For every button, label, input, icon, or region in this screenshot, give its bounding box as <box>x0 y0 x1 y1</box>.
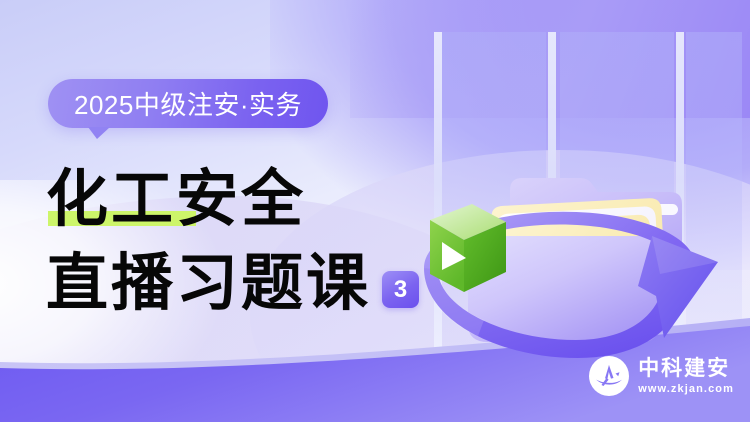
brand-url: www.zkjan.com <box>638 384 734 395</box>
title-line-2: 直播习题课 <box>46 252 371 314</box>
logo-mark-svg <box>592 359 626 393</box>
title-line-1: 化工安全 <box>46 168 306 230</box>
course-banner: 2025中级注安·实务 化工安全 直播习题课 3 中科建安 www.z <box>0 0 750 422</box>
brand-logo-text: 中科建安 www.zkjan.com <box>638 358 734 395</box>
brand-logo[interactable]: 中科建安 www.zkjan.com <box>589 356 734 396</box>
episode-badge: 3 <box>382 271 419 308</box>
course-tag-pill[interactable]: 2025中级注安·实务 <box>48 79 328 128</box>
page-title: 化工安全 直播习题课 3 <box>46 152 419 314</box>
speech-bubble-tail-icon <box>88 127 110 139</box>
course-illustration <box>402 120 750 373</box>
brand-name: 中科建安 <box>638 358 734 379</box>
course-tag-label: 2025中级注安·实务 <box>74 85 302 122</box>
illustration-svg <box>402 120 750 368</box>
zkjan-circle-logo-icon <box>589 356 629 396</box>
title-line-2-row: 直播习题课 3 <box>46 236 419 314</box>
title-line-1-row: 化工安全 <box>46 152 419 230</box>
